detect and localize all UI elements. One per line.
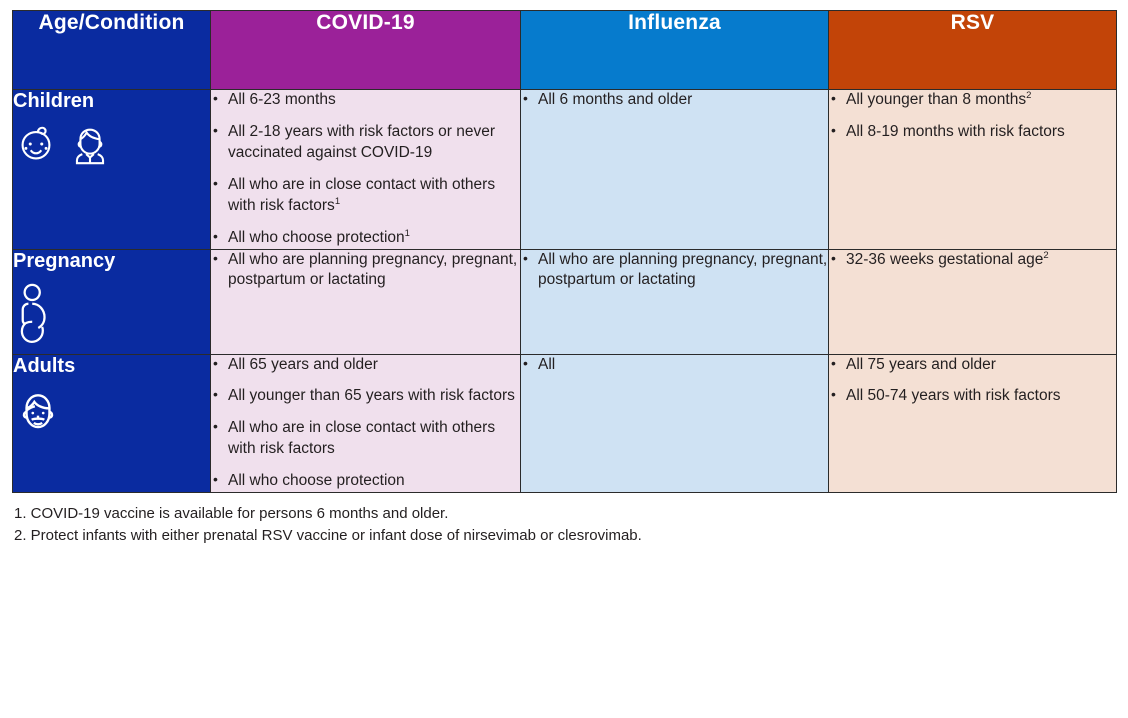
footnotes: 1. COVID-19 vaccine is available for per… (12, 503, 1116, 547)
vaccine-recommendation-table: Age/Condition COVID-19 Influenza RSV Chi… (12, 10, 1117, 493)
bullet-list: All 6 months and older (521, 90, 828, 111)
list-item: All who choose protection (211, 471, 520, 492)
cell-adults-influenza: All (521, 354, 829, 493)
table-header-row: Age/Condition COVID-19 Influenza RSV (13, 11, 1117, 90)
list-item: All 50-74 years with risk factors (829, 386, 1116, 407)
table-row: Pregnancy All who are planning pregn (13, 249, 1117, 354)
list-item: All 65 years and older (211, 355, 520, 376)
pregnant-woman-icon (13, 282, 59, 354)
list-item: All younger than 65 years with risk fact… (211, 386, 520, 407)
cell-children-rsv: All younger than 8 months2 All 8-19 mont… (829, 90, 1117, 250)
list-item: All who are planning pregnancy, pregnant… (211, 250, 520, 292)
header-covid19: COVID-19 (211, 11, 521, 90)
bullet-list: All (521, 355, 828, 376)
vaccine-recommendation-table-page: Age/Condition COVID-19 Influenza RSV Chi… (0, 0, 1128, 718)
girl-face-icon (67, 122, 113, 168)
list-item: All 75 years and older (829, 355, 1116, 376)
bullet-list: 32-36 weeks gestational age2 (829, 250, 1116, 271)
list-item: All who are in close contact with others… (211, 418, 520, 460)
bullet-list: All who are planning pregnancy, pregnant… (521, 250, 828, 292)
footnote-ref: 2 (1043, 249, 1048, 260)
list-item: All 8-19 months with risk factors (829, 122, 1116, 143)
footnote-2: 2. Protect infants with either prenatal … (14, 525, 1116, 547)
table-row: Adults (13, 354, 1117, 493)
baby-face-icon (13, 122, 59, 168)
row-label-text: Children (13, 90, 210, 112)
bullet-list: All 6-23 months All 2-18 years with risk… (211, 90, 520, 249)
cell-adults-covid: All 65 years and older All younger than … (211, 354, 521, 493)
list-item: All 6 months and older (521, 90, 828, 111)
footnote-1: 1. COVID-19 vaccine is available for per… (14, 503, 1116, 525)
list-item: All who are in close contact with others… (211, 175, 520, 217)
cell-children-influenza: All 6 months and older (521, 90, 829, 250)
list-item: 32-36 weeks gestational age2 (829, 250, 1116, 271)
footnote-ref: 1 (405, 227, 410, 238)
row-label-children: Children (13, 90, 211, 250)
bullet-list: All younger than 8 months2 All 8-19 mont… (829, 90, 1116, 143)
footnote-ref: 2 (1026, 90, 1031, 101)
row-label-adults: Adults (13, 354, 211, 493)
bullet-list: All 65 years and older All younger than … (211, 355, 520, 493)
table-row: Children (13, 90, 1117, 250)
row-label-pregnancy: Pregnancy (13, 249, 211, 354)
list-item: All younger than 8 months2 (829, 90, 1116, 111)
row-label-text: Adults (13, 355, 210, 377)
bullet-list: All 75 years and older All 50-74 years w… (829, 355, 1116, 408)
list-item: All 2-18 years with risk factors or neve… (211, 122, 520, 164)
row-icons-pregnancy (13, 282, 210, 354)
footnote-ref: 1 (335, 196, 340, 207)
cell-adults-rsv: All 75 years and older All 50-74 years w… (829, 354, 1117, 493)
cell-pregnancy-influenza: All who are planning pregnancy, pregnant… (521, 249, 829, 354)
row-icons-adults (13, 387, 210, 437)
cell-children-covid: All 6-23 months All 2-18 years with risk… (211, 90, 521, 250)
cell-pregnancy-rsv: 32-36 weeks gestational age2 (829, 249, 1117, 354)
list-item: All who choose protection1 (211, 228, 520, 249)
header-rsv: RSV (829, 11, 1117, 90)
row-label-text: Pregnancy (13, 250, 210, 272)
list-item: All (521, 355, 828, 376)
row-icons-children (13, 122, 210, 168)
table-body: Children (13, 90, 1117, 493)
list-item: All who are planning pregnancy, pregnant… (521, 250, 828, 292)
bullet-list: All who are planning pregnancy, pregnant… (211, 250, 520, 292)
header-age-condition: Age/Condition (13, 11, 211, 90)
list-item: All 6-23 months (211, 90, 520, 111)
header-influenza: Influenza (521, 11, 829, 90)
adult-man-face-icon (13, 387, 63, 437)
cell-pregnancy-covid: All who are planning pregnancy, pregnant… (211, 249, 521, 354)
